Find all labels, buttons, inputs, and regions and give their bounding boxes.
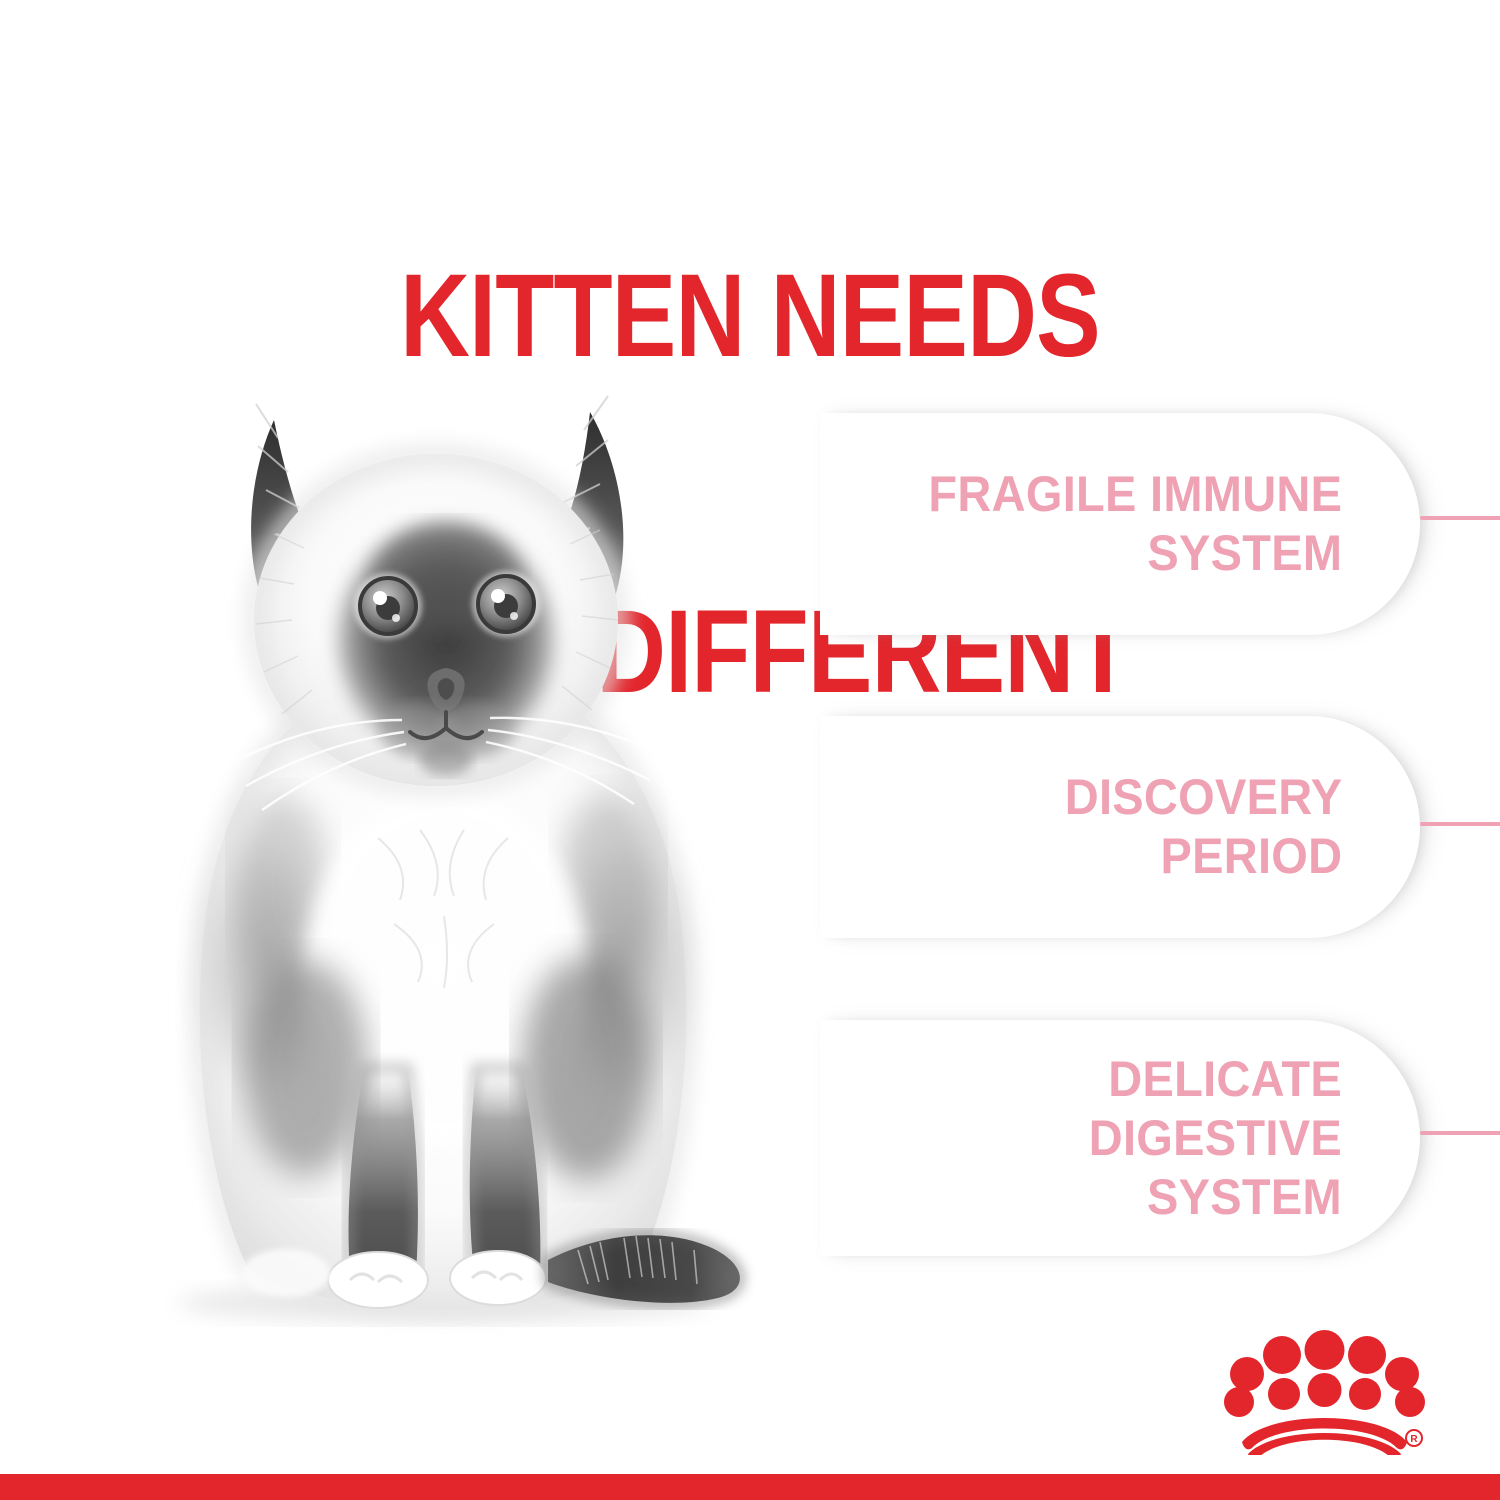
- callout-connector-line-2: [1420, 822, 1500, 826]
- registered-trademark-icon: R: [1406, 1430, 1422, 1446]
- callout-connector-line-1: [1420, 516, 1500, 520]
- callout-label: DISCOVERY PERIOD: [1064, 768, 1342, 886]
- callout-label: DELICATE DIGESTIVE SYSTEM: [851, 1050, 1342, 1227]
- poster-canvas: KITTEN NEEDS ARE DIFFERENT: [0, 0, 1500, 1500]
- callout-label: FRAGILE IMMUNE SYSTEM: [928, 465, 1342, 583]
- callout-delicate-digestive-system[interactable]: DELICATE DIGESTIVE SYSTEM: [820, 1020, 1420, 1256]
- footer-bar: [0, 1474, 1500, 1500]
- callout-connector-line-3: [1420, 1131, 1500, 1135]
- callout-fragile-immune-system[interactable]: FRAGILE IMMUNE SYSTEM: [820, 413, 1420, 635]
- kitten-photo: [78, 368, 808, 1338]
- royal-canin-crown-icon: R: [1222, 1330, 1427, 1455]
- callout-discovery-period[interactable]: DISCOVERY PERIOD: [820, 716, 1420, 938]
- page-title-line-1: KITTEN NEEDS: [135, 260, 1365, 372]
- svg-text:R: R: [1410, 1434, 1418, 1445]
